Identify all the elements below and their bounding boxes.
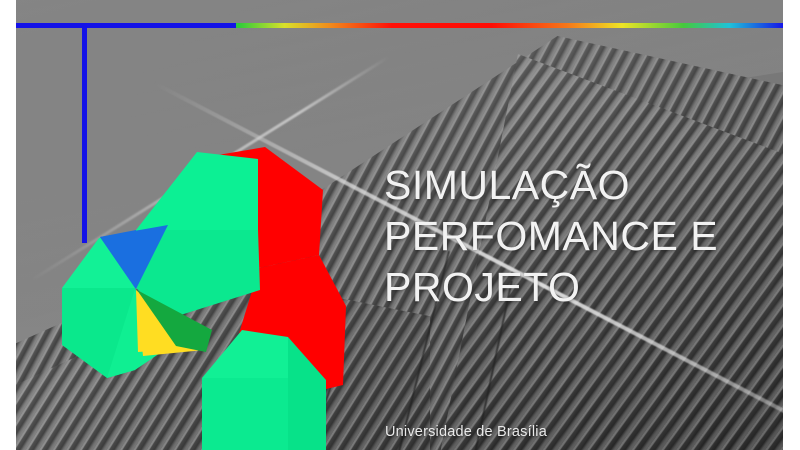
hex-bottom-green-body <box>202 378 288 450</box>
slide-subtitle: Universidade de Brasília <box>385 424 547 440</box>
page-margin-right <box>783 0 800 450</box>
hex-center-green-roof <box>136 152 258 230</box>
hex-bottom-green-roof <box>202 330 288 378</box>
title-line-2: PERFOMANCE E <box>384 211 783 262</box>
slide-title: SIMULAÇÃO PERFOMANCE E PROJETO <box>384 160 783 313</box>
slide-canvas: SIMULAÇÃO PERFOMANCE E PROJETO Universid… <box>16 0 783 450</box>
page-margin-left <box>0 0 16 450</box>
title-line-1: SIMULAÇÃO <box>384 160 783 211</box>
slide-root: SIMULAÇÃO PERFOMANCE E PROJETO Universid… <box>0 0 800 450</box>
title-line-3: PROJETO <box>384 262 783 313</box>
